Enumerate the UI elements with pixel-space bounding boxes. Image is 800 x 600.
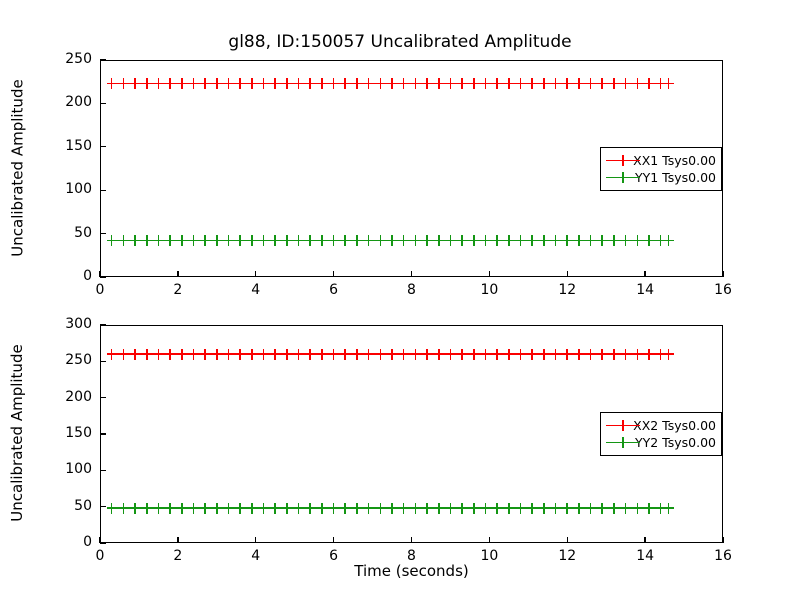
data-point-marker [247,503,258,514]
marker-horizontal-stroke [632,83,643,85]
data-point-marker [177,78,188,89]
marker-horizontal-stroke [259,83,270,85]
data-point-marker [597,503,608,514]
data-point-marker [188,235,199,246]
data-point-marker [387,503,398,514]
marker-horizontal-stroke [375,240,386,242]
marker-horizontal-stroke [539,353,550,355]
marker-horizontal-stroke [422,507,433,509]
x-tick-mark [255,537,256,543]
y-axis-label-bottom: Uncalibrated Amplitude [8,324,26,542]
marker-horizontal-stroke [282,83,293,85]
marker-horizontal-stroke [142,83,153,85]
marker-horizontal-stroke [457,83,468,85]
data-point-marker [165,78,176,89]
data-point-marker [574,78,585,89]
marker-horizontal-stroke [165,353,176,355]
data-point-marker [142,503,153,514]
data-point-marker [107,503,118,514]
y-tick-mark [100,233,106,234]
marker-horizontal-stroke [663,353,674,355]
data-point-marker [364,78,375,89]
marker-horizontal-stroke [305,353,316,355]
data-point-marker [597,78,608,89]
data-point-marker [305,349,316,360]
data-point-marker [212,78,223,89]
data-point-marker [118,349,129,360]
data-point-marker [445,78,456,89]
y-tick-mark [100,542,106,543]
data-point-marker [574,503,585,514]
data-point-marker [609,235,620,246]
y-tick-label: 50 [34,225,92,241]
y-tick-mark [100,470,106,471]
data-point-marker [259,503,270,514]
x-tick-mark [255,271,256,277]
x-tick-mark [411,537,412,543]
marker-horizontal-stroke [270,83,281,85]
data-point-marker [574,349,585,360]
marker-horizontal-stroke [445,507,456,509]
marker-horizontal-stroke [469,83,480,85]
marker-horizontal-stroke [492,83,503,85]
marker-horizontal-stroke [294,353,305,355]
data-point-marker [235,349,246,360]
marker-horizontal-stroke [644,507,655,509]
data-point-marker [663,349,674,360]
marker-horizontal-stroke [247,353,258,355]
data-point-marker [516,78,527,89]
data-point-marker [247,78,258,89]
marker-horizontal-stroke [551,507,562,509]
legend-marker-icon [606,154,626,167]
data-point-marker [130,349,141,360]
marker-horizontal-stroke [223,353,234,355]
data-point-marker [375,503,386,514]
data-point-marker [305,78,316,89]
marker-horizontal-stroke [410,507,421,509]
marker-horizontal-stroke [621,83,632,85]
data-point-marker [165,503,176,514]
marker-horizontal-stroke [492,507,503,509]
marker-horizontal-stroke [247,83,258,85]
legend-item[interactable]: YY2 Tsys0.00 [606,434,716,451]
data-point-marker [445,349,456,360]
marker-horizontal-stroke [107,83,118,85]
marker-horizontal-stroke [259,240,270,242]
data-point-marker [434,235,445,246]
data-point-marker [399,349,410,360]
x-tick-mark [722,537,723,543]
marker-horizontal-stroke [118,353,129,355]
data-point-marker [422,235,433,246]
marker-horizontal-stroke [340,507,351,509]
y-tick-mark [100,397,106,398]
marker-horizontal-stroke [551,353,562,355]
marker-horizontal-stroke [165,240,176,242]
data-point-marker [516,503,527,514]
x-tick-mark [489,271,490,277]
marker-horizontal-stroke [574,240,585,242]
data-point-marker [551,78,562,89]
marker-horizontal-stroke [235,353,246,355]
x-tick-label: 4 [231,282,281,298]
marker-horizontal-stroke [527,240,538,242]
marker-horizontal-stroke [212,353,223,355]
y-tick-mark [100,506,106,507]
legend-bottom[interactable]: XX2 Tsys0.00YY2 Tsys0.00 [600,412,722,456]
data-point-marker [118,503,129,514]
data-point-marker [247,235,258,246]
y-tick-label: 150 [34,425,92,441]
marker-horizontal-stroke [329,507,340,509]
marker-horizontal-stroke [177,83,188,85]
data-point-marker [165,235,176,246]
data-point-marker [142,78,153,89]
data-point-marker [142,235,153,246]
data-point-marker [609,78,620,89]
x-tick-mark [489,537,490,543]
data-point-marker [352,349,363,360]
legend-item[interactable]: XX1 Tsys0.00 [606,152,716,169]
y-tick-mark [100,361,106,362]
data-point-marker [621,78,632,89]
data-point-marker [469,349,480,360]
data-point-marker [223,503,234,514]
data-point-marker [259,235,270,246]
data-point-marker [270,503,281,514]
data-point-marker [153,235,164,246]
marker-horizontal-stroke [153,83,164,85]
marker-horizontal-stroke [270,240,281,242]
marker-horizontal-stroke [445,240,456,242]
marker-horizontal-stroke [294,83,305,85]
marker-horizontal-stroke [387,83,398,85]
legend-marker-horizontal-stroke [618,177,629,179]
marker-horizontal-stroke [445,353,456,355]
data-point-marker [387,235,398,246]
marker-horizontal-stroke [597,240,608,242]
marker-horizontal-stroke [130,83,141,85]
data-point-marker [457,503,468,514]
data-point-marker [270,78,281,89]
data-point-marker [457,349,468,360]
data-point-marker [586,503,597,514]
data-point-marker [539,349,550,360]
data-point-marker [375,78,386,89]
marker-horizontal-stroke [340,240,351,242]
y-tick-label: 300 [34,316,92,332]
data-point-marker [527,503,538,514]
marker-horizontal-stroke [235,240,246,242]
data-point-marker [188,503,199,514]
data-point-marker [375,235,386,246]
y-tick-mark [100,59,106,60]
marker-horizontal-stroke [399,353,410,355]
marker-horizontal-stroke [586,353,597,355]
marker-horizontal-stroke [375,353,386,355]
marker-horizontal-stroke [107,353,118,355]
marker-horizontal-stroke [294,240,305,242]
data-point-marker [130,503,141,514]
marker-horizontal-stroke [282,507,293,509]
data-point-marker [107,78,118,89]
y-tick-label: 200 [34,94,92,110]
legend-label: XX2 Tsys0.00 [633,418,716,433]
data-point-marker [142,349,153,360]
data-point-marker [469,78,480,89]
data-point-marker [340,235,351,246]
marker-horizontal-stroke [399,83,410,85]
data-point-marker [270,349,281,360]
data-point-marker [504,503,515,514]
marker-horizontal-stroke [165,507,176,509]
marker-horizontal-stroke [562,240,573,242]
marker-horizontal-stroke [621,240,632,242]
marker-horizontal-stroke [329,240,340,242]
data-point-marker [364,503,375,514]
data-point-marker [410,78,421,89]
marker-horizontal-stroke [259,507,270,509]
data-point-marker [457,235,468,246]
marker-horizontal-stroke [551,240,562,242]
y-tick-label: 100 [34,461,92,477]
data-point-marker [632,235,643,246]
y-tick-mark [100,324,106,325]
data-point-marker [621,349,632,360]
marker-horizontal-stroke [609,83,620,85]
data-point-marker [153,349,164,360]
marker-horizontal-stroke [516,83,527,85]
data-point-marker [663,235,674,246]
marker-horizontal-stroke [539,83,550,85]
figure-title: gl88, ID:150057 Uncalibrated Amplitude [0,32,800,52]
marker-horizontal-stroke [469,507,480,509]
marker-horizontal-stroke [130,353,141,355]
marker-horizontal-stroke [434,83,445,85]
data-point-marker [504,235,515,246]
marker-horizontal-stroke [586,83,597,85]
marker-horizontal-stroke [609,240,620,242]
marker-horizontal-stroke [130,240,141,242]
x-tick-mark [333,271,334,277]
marker-horizontal-stroke [270,353,281,355]
marker-horizontal-stroke [457,240,468,242]
data-point-marker [457,78,468,89]
marker-horizontal-stroke [317,507,328,509]
marker-horizontal-stroke [492,240,503,242]
data-point-marker [586,78,597,89]
data-point-marker [469,503,480,514]
data-point-marker [644,78,655,89]
data-point-marker [562,235,573,246]
data-point-marker [539,235,550,246]
data-point-marker [270,235,281,246]
marker-horizontal-stroke [107,240,118,242]
marker-horizontal-stroke [663,507,674,509]
marker-horizontal-stroke [574,83,585,85]
data-point-marker [235,78,246,89]
data-point-marker [562,349,573,360]
marker-horizontal-stroke [188,353,199,355]
x-tick-mark [333,537,334,543]
marker-horizontal-stroke [329,83,340,85]
marker-horizontal-stroke [340,353,351,355]
marker-horizontal-stroke [352,507,363,509]
marker-horizontal-stroke [410,353,421,355]
data-point-marker [480,349,491,360]
marker-horizontal-stroke [177,353,188,355]
y-tick-mark [100,103,106,104]
data-point-marker [294,235,305,246]
marker-horizontal-stroke [410,240,421,242]
data-point-marker [586,349,597,360]
data-point-marker [329,349,340,360]
y-tick-label: 250 [34,51,92,67]
marker-horizontal-stroke [364,83,375,85]
legend-item[interactable]: XX2 Tsys0.00 [606,417,716,434]
marker-horizontal-stroke [375,507,386,509]
legend-top[interactable]: XX1 Tsys0.00YY1 Tsys0.00 [600,147,722,191]
marker-horizontal-stroke [445,83,456,85]
marker-horizontal-stroke [539,507,550,509]
legend-item[interactable]: YY1 Tsys0.00 [606,169,716,186]
data-point-marker [223,78,234,89]
data-point-marker [188,349,199,360]
legend-marker-horizontal-stroke [618,425,629,427]
marker-horizontal-stroke [212,83,223,85]
data-point-marker [644,503,655,514]
data-point-marker [539,78,550,89]
data-point-marker [130,235,141,246]
marker-horizontal-stroke [352,353,363,355]
data-point-marker [188,78,199,89]
marker-horizontal-stroke [294,507,305,509]
data-point-marker [200,349,211,360]
data-point-marker [527,349,538,360]
marker-horizontal-stroke [317,353,328,355]
marker-horizontal-stroke [632,353,643,355]
data-point-marker [434,78,445,89]
data-point-marker [480,503,491,514]
data-point-marker [282,503,293,514]
data-point-marker [282,349,293,360]
marker-horizontal-stroke [527,353,538,355]
x-tick-label: 14 [620,282,670,298]
x-tick-mark [644,537,645,543]
marker-horizontal-stroke [188,507,199,509]
marker-horizontal-stroke [223,83,234,85]
data-point-marker [294,78,305,89]
marker-horizontal-stroke [574,353,585,355]
data-point-marker [469,235,480,246]
marker-horizontal-stroke [375,83,386,85]
data-point-marker [644,235,655,246]
data-point-marker [492,78,503,89]
data-point-marker [387,349,398,360]
data-point-marker [305,503,316,514]
marker-horizontal-stroke [422,83,433,85]
marker-horizontal-stroke [574,507,585,509]
marker-horizontal-stroke [457,507,468,509]
marker-horizontal-stroke [235,83,246,85]
x-tick-label: 2 [153,282,203,298]
data-point-marker [410,503,421,514]
data-point-marker [597,235,608,246]
marker-horizontal-stroke [259,353,270,355]
marker-horizontal-stroke [282,240,293,242]
marker-horizontal-stroke [480,507,491,509]
legend-label: XX1 Tsys0.00 [633,153,716,168]
data-point-marker [663,503,674,514]
data-point-marker [663,78,674,89]
marker-horizontal-stroke [632,507,643,509]
marker-horizontal-stroke [235,507,246,509]
data-point-marker [247,349,258,360]
marker-horizontal-stroke [632,240,643,242]
data-point-marker [364,349,375,360]
data-point-marker [282,78,293,89]
marker-horizontal-stroke [551,83,562,85]
marker-horizontal-stroke [644,240,655,242]
data-point-marker [352,235,363,246]
data-point-marker [118,235,129,246]
marker-horizontal-stroke [247,240,258,242]
data-point-marker [235,235,246,246]
marker-horizontal-stroke [597,507,608,509]
data-point-marker [480,235,491,246]
marker-horizontal-stroke [305,240,316,242]
data-point-marker [445,503,456,514]
data-point-marker [399,503,410,514]
legend-label: YY1 Tsys0.00 [635,170,716,185]
data-point-marker [434,349,445,360]
data-point-marker [597,349,608,360]
data-point-marker [200,235,211,246]
marker-horizontal-stroke [597,83,608,85]
y-axis-label-top: Uncalibrated Amplitude [8,59,26,276]
marker-horizontal-stroke [422,240,433,242]
marker-horizontal-stroke [480,83,491,85]
marker-horizontal-stroke [387,353,398,355]
data-point-marker [434,503,445,514]
data-point-marker [235,503,246,514]
data-point-marker [340,349,351,360]
data-point-marker [527,235,538,246]
y-tick-label: 150 [34,138,92,154]
marker-horizontal-stroke [422,353,433,355]
marker-horizontal-stroke [399,507,410,509]
data-point-marker [165,349,176,360]
data-point-marker [294,349,305,360]
x-tick-mark [567,537,568,543]
data-point-marker [574,235,585,246]
data-point-marker [399,235,410,246]
marker-horizontal-stroke [586,240,597,242]
y-tick-label: 200 [34,389,92,405]
marker-horizontal-stroke [212,507,223,509]
data-point-marker [527,78,538,89]
marker-horizontal-stroke [504,83,515,85]
marker-horizontal-stroke [516,240,527,242]
marker-horizontal-stroke [153,353,164,355]
marker-horizontal-stroke [118,507,129,509]
marker-horizontal-stroke [480,353,491,355]
marker-horizontal-stroke [410,83,421,85]
data-point-marker [317,349,328,360]
data-point-marker [410,349,421,360]
marker-horizontal-stroke [165,83,176,85]
